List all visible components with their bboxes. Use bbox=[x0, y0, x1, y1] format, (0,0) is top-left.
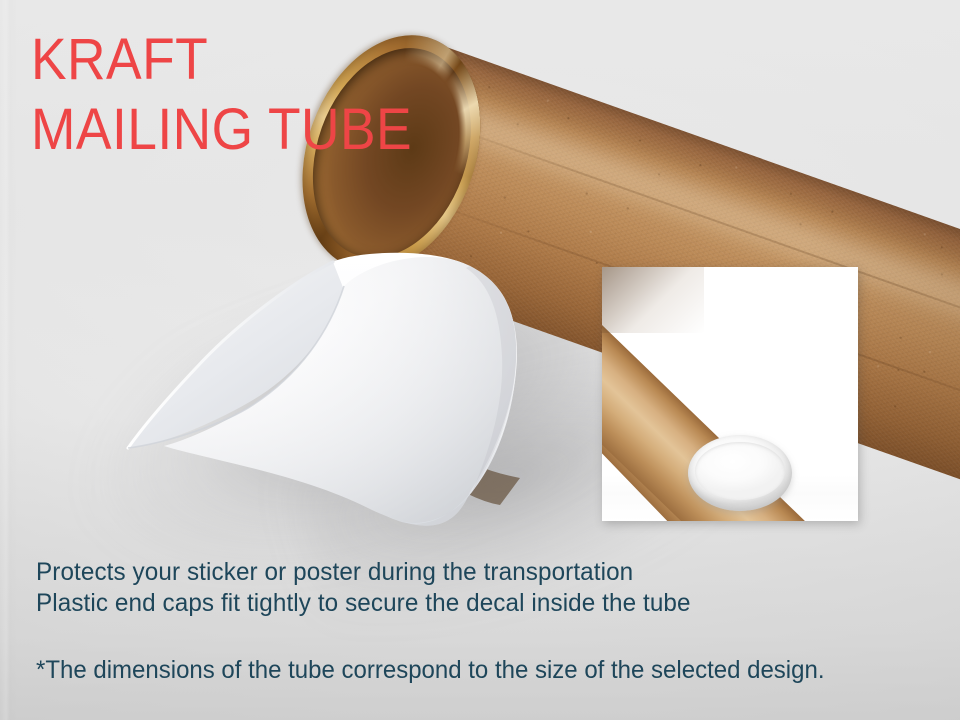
feature-list: Protects your sticker or poster during t… bbox=[36, 557, 691, 619]
footnote-text: *The dimensions of the tube correspond t… bbox=[36, 655, 824, 685]
headline-line-1: KRAFT bbox=[31, 33, 412, 88]
inset-corner-shadow bbox=[602, 267, 704, 333]
product-banner: KRAFT MAILING TUBE Protects your sticker… bbox=[0, 0, 960, 720]
headline-line-2: MAILING TUBE bbox=[31, 103, 412, 158]
inset-product-photo bbox=[602, 267, 858, 521]
feature-line-2: Plastic end caps fit tightly to secure t… bbox=[36, 588, 691, 619]
page-title: KRAFT MAILING TUBE bbox=[31, 33, 445, 157]
inset-photo-content bbox=[602, 267, 858, 521]
feature-line-1: Protects your sticker or poster during t… bbox=[36, 557, 691, 588]
inset-loose-plastic-end-cap bbox=[688, 435, 792, 511]
